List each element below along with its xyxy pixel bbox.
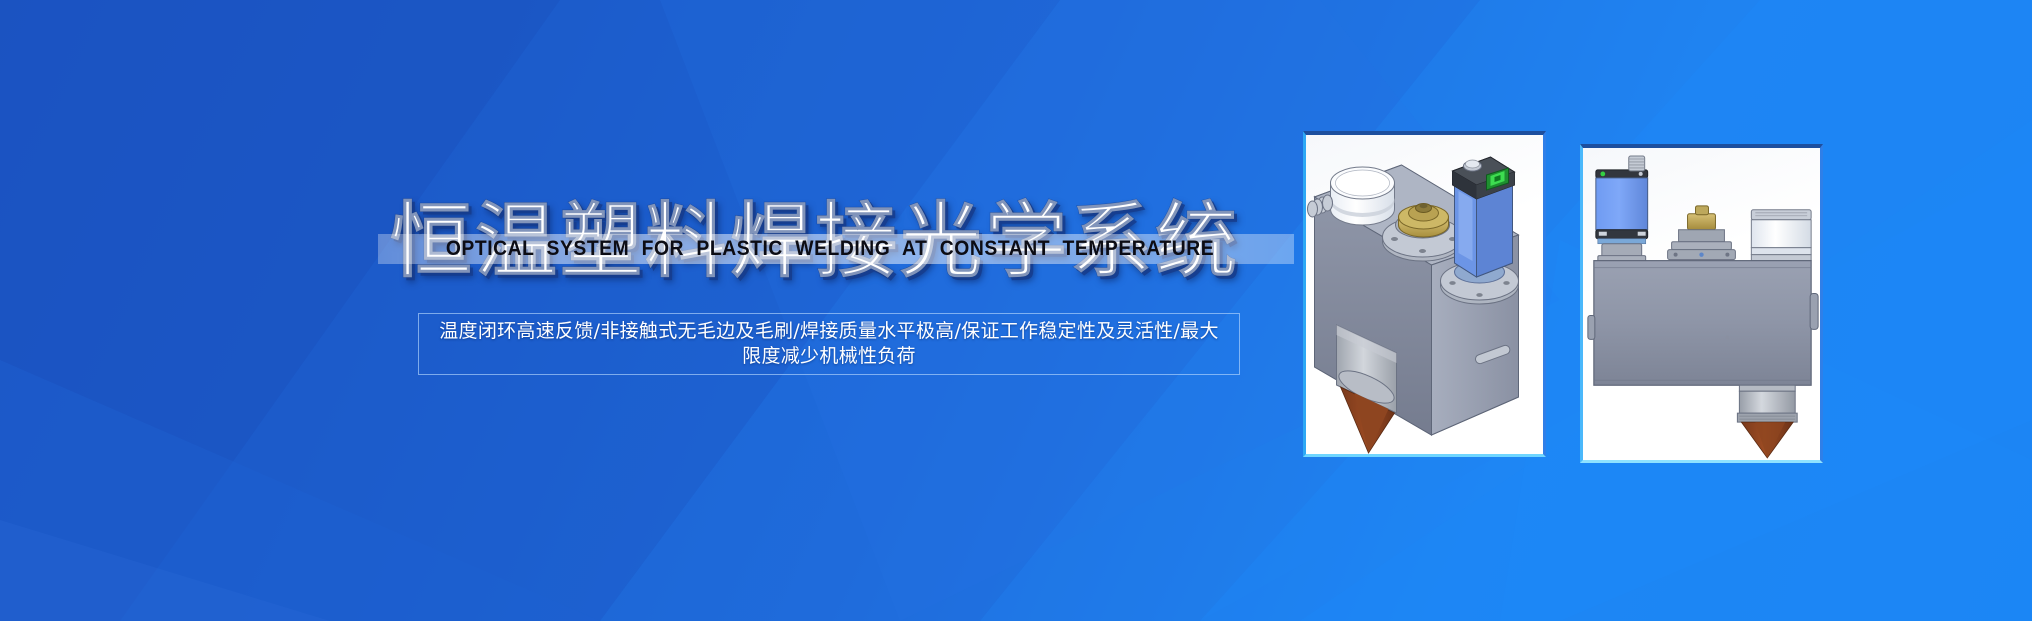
headline-block: 恒温塑料焊接光学系统 OPTICAL SYSTEM FOR PLASTIC WE… — [0, 0, 1290, 621]
title-group: 恒温塑料焊接光学系统 OPTICAL SYSTEM FOR PLASTIC WE… — [390, 196, 1270, 300]
description-box: 温度闭环高速反馈/非接触式无毛边及毛刷/焊接质量水平极高/保证工作稳定性及灵活性… — [418, 313, 1240, 375]
welding-head-front-illustration — [1583, 148, 1820, 460]
product-image-front-view[interactable] — [1580, 144, 1823, 463]
welding-head-isometric-illustration — [1306, 135, 1543, 454]
product-banner: 恒温塑料焊接光学系统 OPTICAL SYSTEM FOR PLASTIC WE… — [0, 0, 2032, 621]
description-text: 温度闭环高速反馈/非接触式无毛边及毛刷/焊接质量水平极高/保证工作稳定性及灵活性… — [433, 319, 1225, 369]
page-subtitle-english: OPTICAL SYSTEM FOR PLASTIC WELDING AT CO… — [425, 234, 1235, 264]
product-image-isometric[interactable] — [1303, 131, 1546, 457]
